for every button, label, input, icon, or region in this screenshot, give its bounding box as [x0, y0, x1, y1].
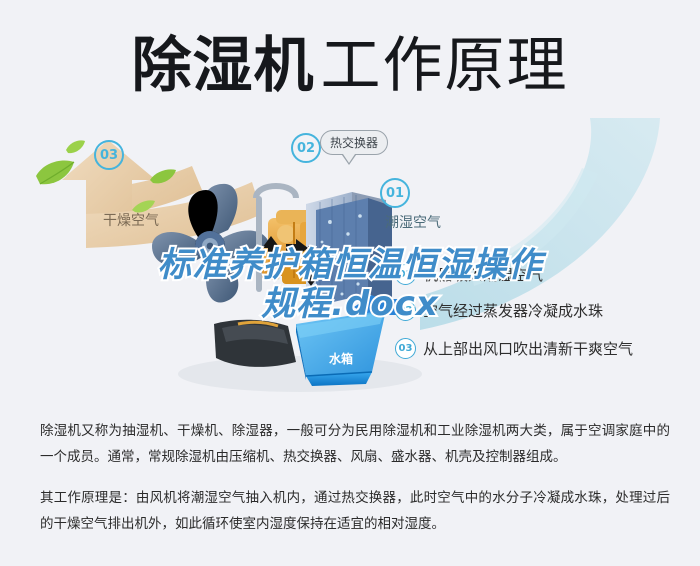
diagram-badge-01: 01 — [380, 178, 410, 208]
title-text: 除湿机工作原理 — [132, 36, 569, 96]
caption-badge-02: 02 — [395, 300, 416, 321]
dehumidifier-diagram: 03 02 01 热交换器 干燥空气 潮湿空气 水箱 01 机器吸入潮湿空气 0… — [0, 118, 700, 406]
title-part-2: 工作原理 — [321, 31, 569, 101]
title-part-1: 除湿机 — [132, 31, 315, 101]
page-root: 除湿机工作原理 — [0, 0, 700, 566]
diagram-caption-01: 01 机器吸入潮湿空气 — [395, 264, 543, 285]
body-paragraph-2: 其工作原理是：由风机将潮湿空气抽入机内，通过热交换器，此时空气中的水分子冷凝成水… — [40, 485, 670, 538]
diagram-caption-02: 02 空气经过蒸发器冷凝成水珠 — [395, 300, 603, 321]
caption-text-02: 空气经过蒸发器冷凝成水珠 — [423, 300, 603, 321]
page-title: 除湿机工作原理 — [0, 26, 700, 106]
dry-air-label: 干燥空气 — [103, 210, 159, 230]
diagram-caption-03: 03 从上部出风口吹出清新干爽空气 — [395, 338, 633, 359]
caption-badge-01: 01 — [395, 264, 416, 285]
humid-air-label: 潮湿空气 — [385, 212, 441, 232]
caption-text-03: 从上部出风口吹出清新干爽空气 — [423, 338, 633, 359]
heat-exchanger-illustration — [306, 192, 392, 306]
caption-text-01: 机器吸入潮湿空气 — [423, 264, 543, 285]
heat-exchanger-label: 热交换器 — [320, 130, 388, 155]
water-tank-label: 水箱 — [329, 350, 353, 367]
diagram-badge-03: 03 — [94, 140, 124, 170]
body-paragraph-1: 除湿机又称为抽湿机、干燥机、除湿器，一般可分为民用除湿机和工业除湿机两大类，属于… — [40, 418, 670, 471]
diagram-badge-02: 02 — [291, 133, 321, 163]
caption-badge-03: 03 — [395, 338, 416, 359]
article-body: 除湿机又称为抽湿机、干燥机、除湿器，一般可分为民用除湿机和工业除湿机两大类，属于… — [40, 418, 670, 537]
